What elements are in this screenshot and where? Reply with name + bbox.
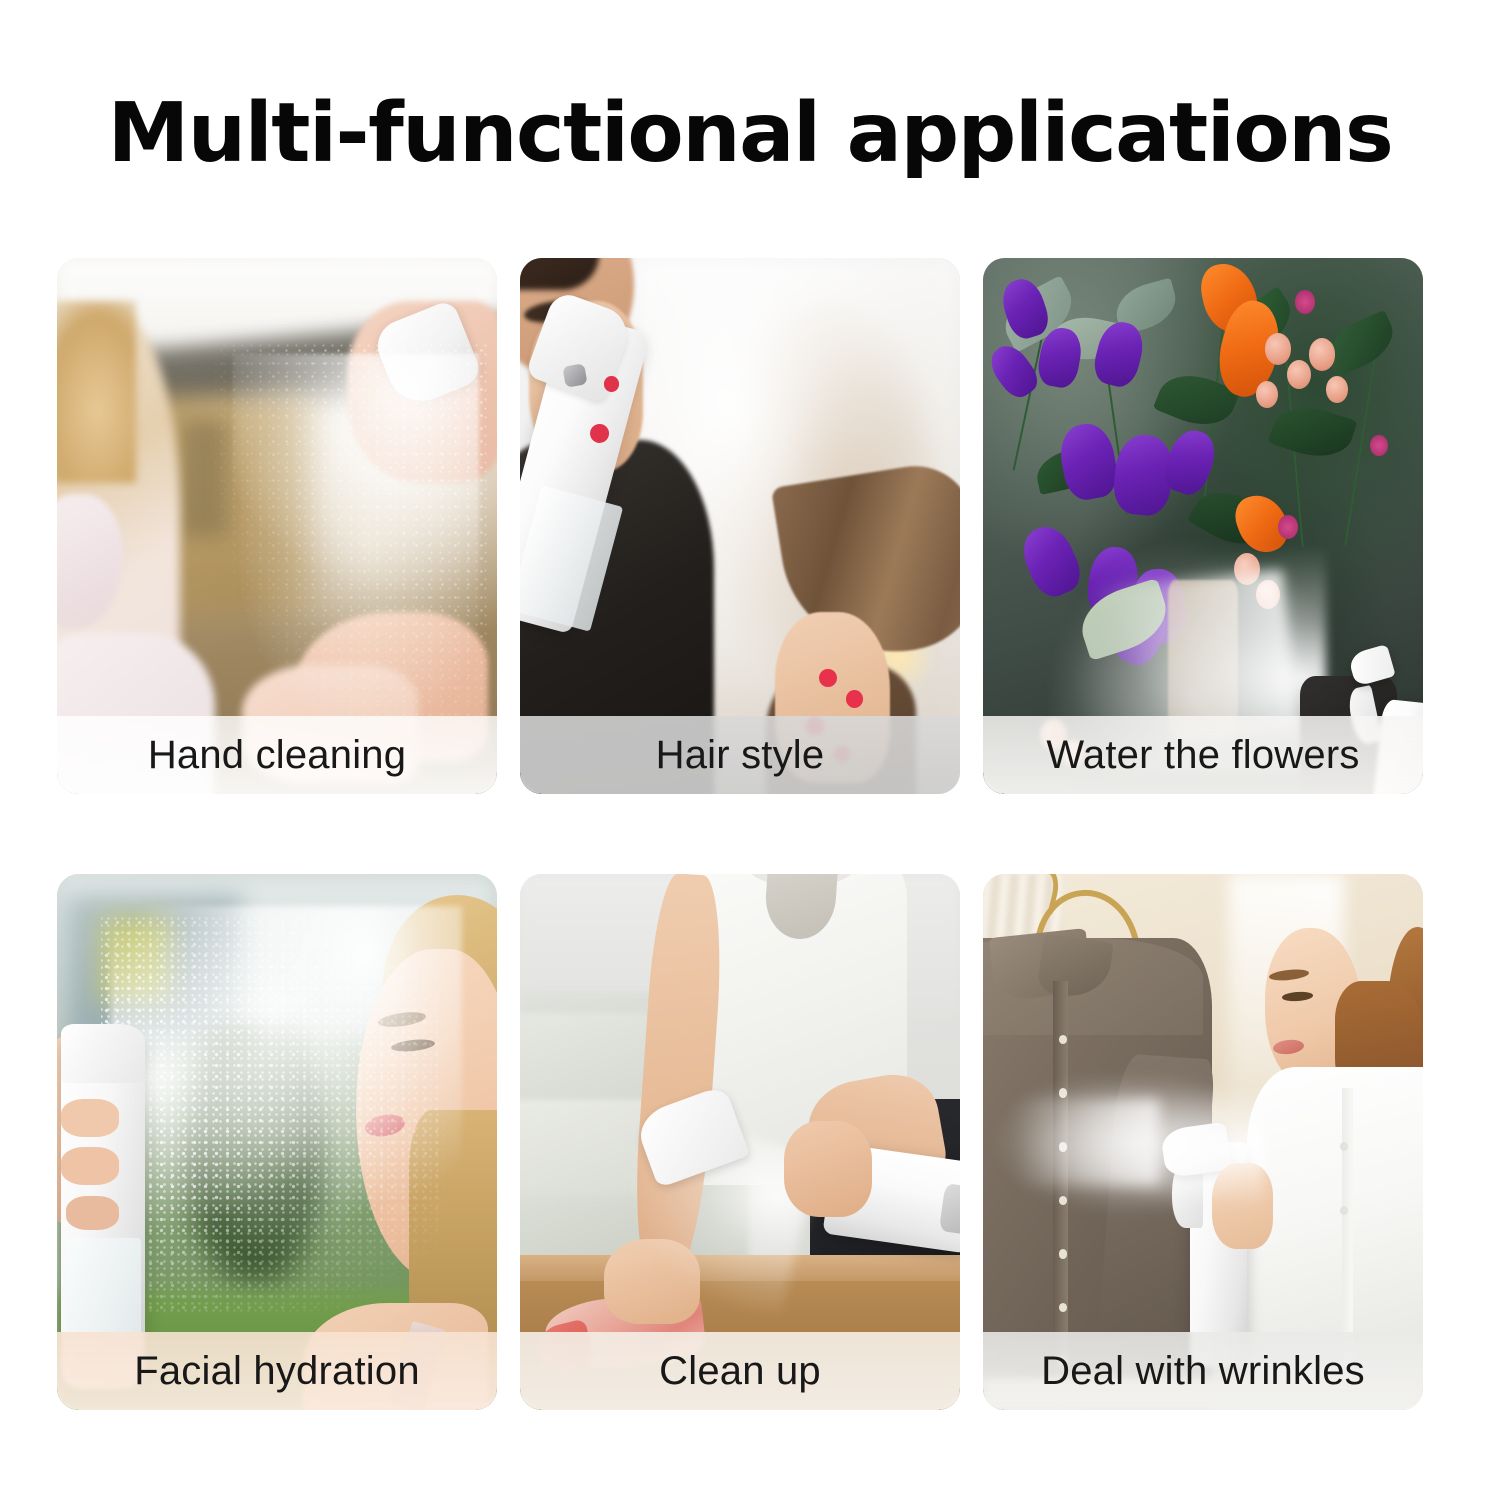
tile-hair-style[interactable]: Hair style [520, 258, 960, 794]
photo-hand-cleaning [57, 258, 497, 794]
photo-facial-hydration [57, 874, 497, 1410]
page-title: Multi-functional applications [0, 86, 1500, 181]
tile-facial-hydration[interactable]: Facial hydration [57, 874, 497, 1410]
tile-caption: Hand cleaning [57, 716, 497, 794]
product-feature-page: Multi-functional applications [0, 0, 1500, 1500]
tile-caption: Hair style [520, 716, 960, 794]
tile-water-the-flowers[interactable]: Water the flowers [983, 258, 1423, 794]
tile-caption: Water the flowers [983, 716, 1423, 794]
photo-water-the-flowers [983, 258, 1423, 794]
child-hair [57, 301, 136, 483]
tile-caption: Clean up [520, 1332, 960, 1410]
tile-caption: Deal with wrinkles [983, 1332, 1423, 1410]
photo-hair-style [520, 258, 960, 794]
tile-deal-with-wrinkles[interactable]: Deal with wrinkles [983, 874, 1423, 1410]
tile-clean-up[interactable]: Clean up [520, 874, 960, 1410]
photo-clean-up [520, 874, 960, 1410]
application-tile-grid: Hand cleaning [57, 258, 1443, 1410]
holding-hand [784, 1121, 872, 1217]
photo-deal-with-wrinkles [983, 874, 1423, 1410]
tile-hand-cleaning[interactable]: Hand cleaning [57, 258, 497, 794]
tile-caption: Facial hydration [57, 1332, 497, 1410]
spray-nozzle [61, 1024, 145, 1083]
